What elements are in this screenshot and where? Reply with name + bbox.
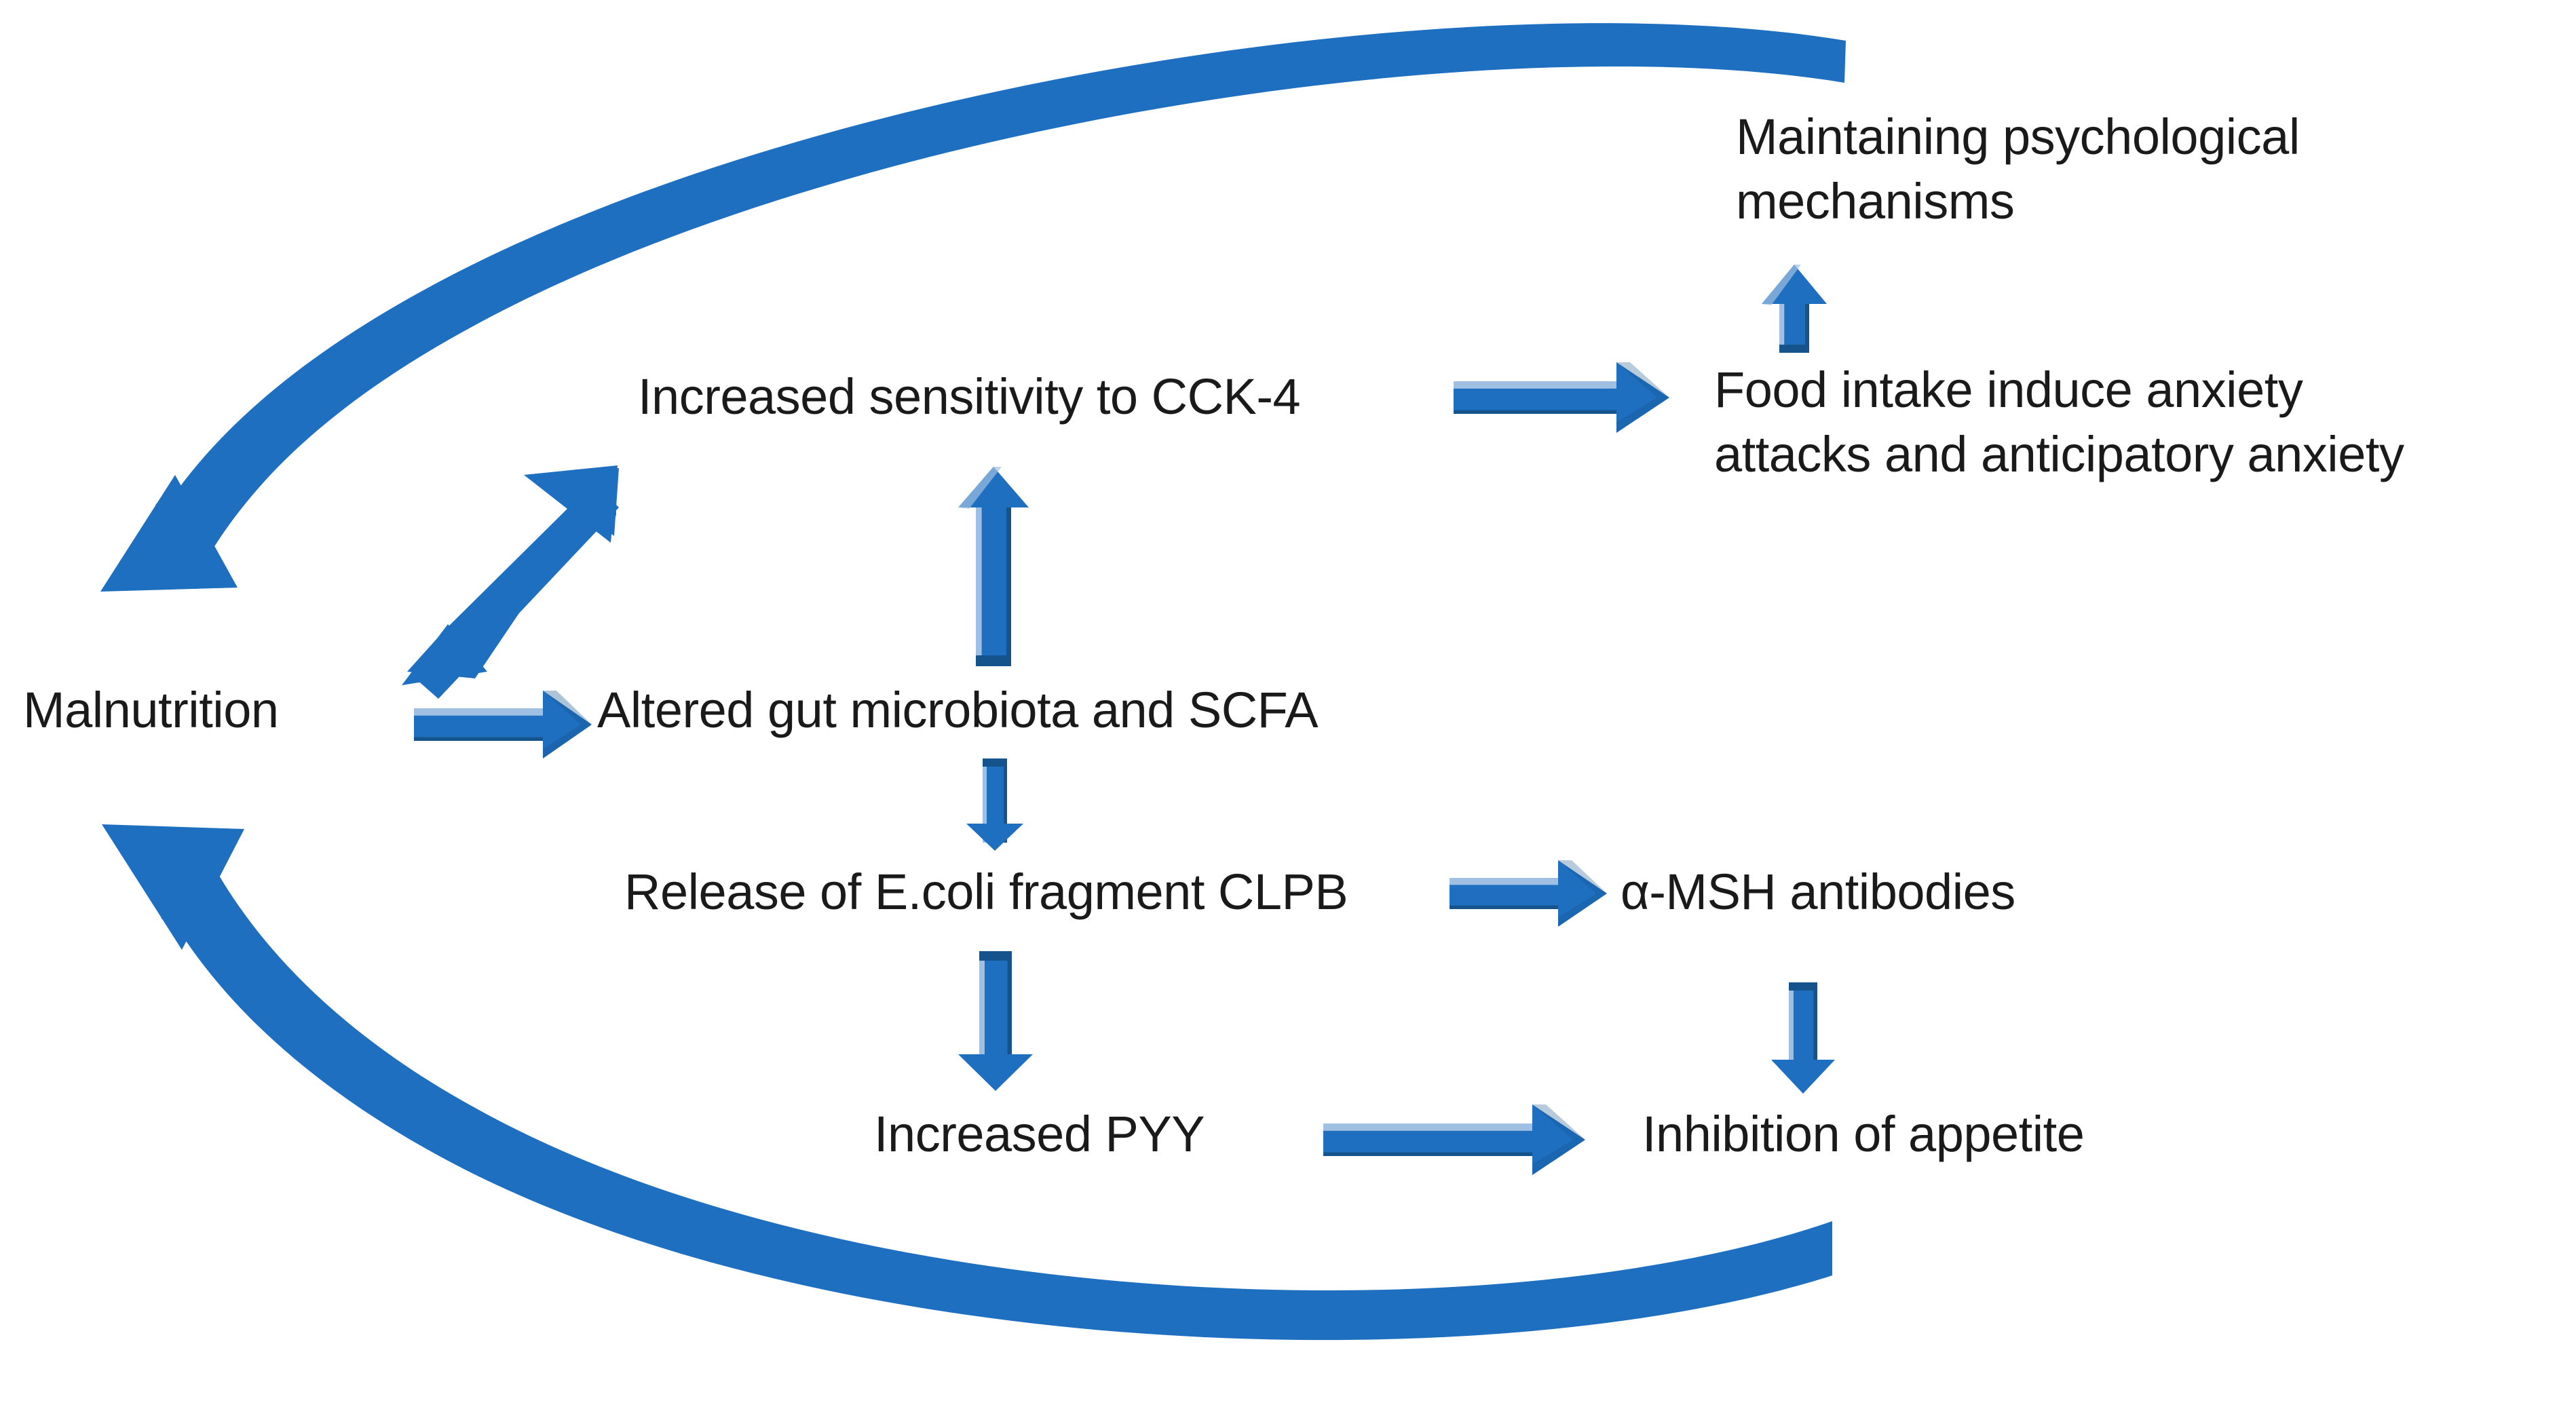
edge-microbiota-to-clpb: [966, 758, 1023, 851]
node-inhibition-of-appetite[interactable]: Inhibition of appetite: [1642, 1102, 2084, 1167]
node-increased-pyy[interactable]: Increased PYY: [874, 1102, 1205, 1167]
node-maintaining-psychological-mechanisms[interactable]: Maintaining psychological mechanisms: [1736, 105, 2300, 233]
node-malnutrition[interactable]: Malnutrition: [23, 678, 279, 743]
edge-cck4-to-foodintake: [1454, 362, 1669, 433]
edge-amsh-to-inhibition: [1771, 982, 1835, 1094]
node-amsh-antibodies[interactable]: α-MSH antibodies: [1621, 860, 2015, 925]
edge-pyy-to-inhibition: [1323, 1104, 1585, 1175]
flowchart-canvas: Malnutrition Increased sensitivity to CC…: [0, 0, 2576, 1403]
edge-foodintake-to-maintaining: [1762, 265, 1827, 353]
edge-microbiota-to-cck4: [958, 467, 1029, 666]
edge-clpb-to-pyy: [958, 951, 1033, 1091]
node-food-intake-anxiety[interactable]: Food intake induce anxiety attacks and a…: [1714, 358, 2404, 486]
edge-malnutrition-to-microbiota: [414, 691, 592, 758]
node-cck4[interactable]: Increased sensitivity to CCK-4: [638, 365, 1300, 429]
edge-malnutrition-to-cck4: [402, 465, 619, 699]
edge-clpb-to-amsh: [1450, 860, 1607, 927]
node-ecoli-clpb[interactable]: Release of E.coli fragment CLPB: [624, 860, 1348, 925]
node-altered-gut-microbiota[interactable]: Altered gut microbiota and SCFA: [597, 678, 1318, 743]
